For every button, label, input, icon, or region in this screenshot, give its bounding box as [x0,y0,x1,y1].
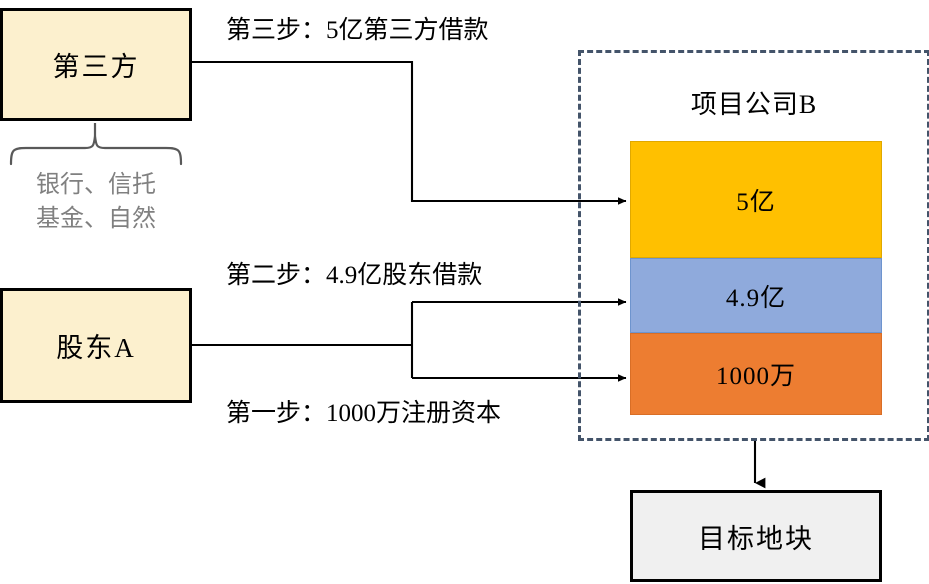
shareholder-loan-amount: 4.9亿 [726,278,786,314]
target-land-box[interactable]: 目标地块 [630,490,882,582]
third-party-types-line-2: 基金、自然 [0,202,192,236]
target-land-label: 目标地块 [698,517,814,556]
step-2-caption: 第二步：4.9亿股东借款 [226,255,482,291]
shareholder-loan-bar[interactable]: 4.9亿 [630,258,882,333]
funding-structure-diagram: 第三方 银行、信托 基金、自然 股东A 第三步：5亿第三方借款 第二步：4.9亿… [0,0,929,584]
registered-capital-bar[interactable]: 1000万 [630,333,882,415]
registered-capital-amount: 1000万 [716,356,796,392]
project-company-title: 项目公司B [578,84,929,121]
connector-shareholder-split [192,302,626,378]
curly-brace-icon [11,123,181,164]
step-3-caption: 第三步：5亿第三方借款 [226,10,489,46]
third-party-types-note: 银行、信托 基金、自然 [0,168,192,236]
third-party-label: 第三方 [53,45,140,84]
third-party-loan-amount: 5亿 [736,182,776,218]
step-1-caption: 第一步：1000万注册资本 [226,393,501,429]
third-party-loan-bar[interactable]: 5亿 [630,141,882,258]
shareholder-label: 股东A [56,326,136,365]
third-party-box[interactable]: 第三方 [0,8,192,121]
third-party-types-line-1: 银行、信托 [0,168,192,202]
shareholder-box[interactable]: 股东A [0,288,192,403]
connector-third-party-to-gold-bar [192,62,626,201]
